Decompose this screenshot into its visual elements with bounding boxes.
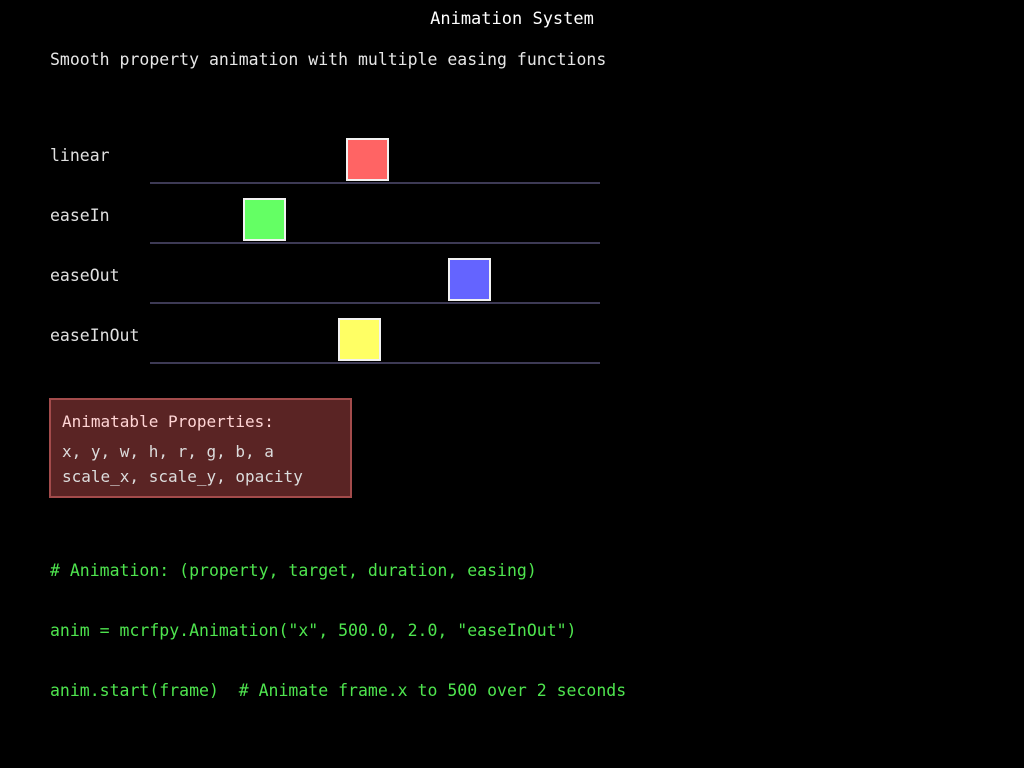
animatable-properties-title: Animatable Properties: bbox=[62, 412, 274, 431]
easing-row-label: easeInOut bbox=[50, 326, 139, 345]
easing-row-easeinout: easeInOut bbox=[0, 310, 1024, 370]
easing-track bbox=[150, 362, 600, 364]
code-line: anim.start(frame) # Animate frame.x to 5… bbox=[50, 681, 626, 701]
easing-track bbox=[150, 302, 600, 304]
easing-row-label: easeOut bbox=[50, 266, 120, 285]
code-line: # Animation: (property, target, duration… bbox=[50, 561, 626, 581]
easing-row-label: linear bbox=[50, 146, 110, 165]
easing-row-easeout: easeOut bbox=[0, 250, 1024, 310]
animatable-properties-panel: Animatable Properties: x, y, w, h, r, g,… bbox=[49, 398, 352, 498]
animatable-properties-line: scale_x, scale_y, opacity bbox=[62, 467, 303, 486]
easing-track bbox=[150, 242, 600, 244]
easing-animated-box[interactable] bbox=[338, 318, 381, 361]
code-line: anim = mcrfpy.Animation("x", 500.0, 2.0,… bbox=[50, 621, 626, 641]
easing-row-label: easeIn bbox=[50, 206, 110, 225]
easing-animated-box[interactable] bbox=[346, 138, 389, 181]
easing-row-easein: easeIn bbox=[0, 190, 1024, 250]
easing-track bbox=[150, 182, 600, 184]
easing-row-linear: linear bbox=[0, 130, 1024, 190]
animatable-properties-line: x, y, w, h, r, g, b, a bbox=[62, 442, 274, 461]
easing-animated-box[interactable] bbox=[243, 198, 286, 241]
code-sample-block: # Animation: (property, target, duration… bbox=[50, 521, 626, 721]
easing-animated-box[interactable] bbox=[448, 258, 491, 301]
